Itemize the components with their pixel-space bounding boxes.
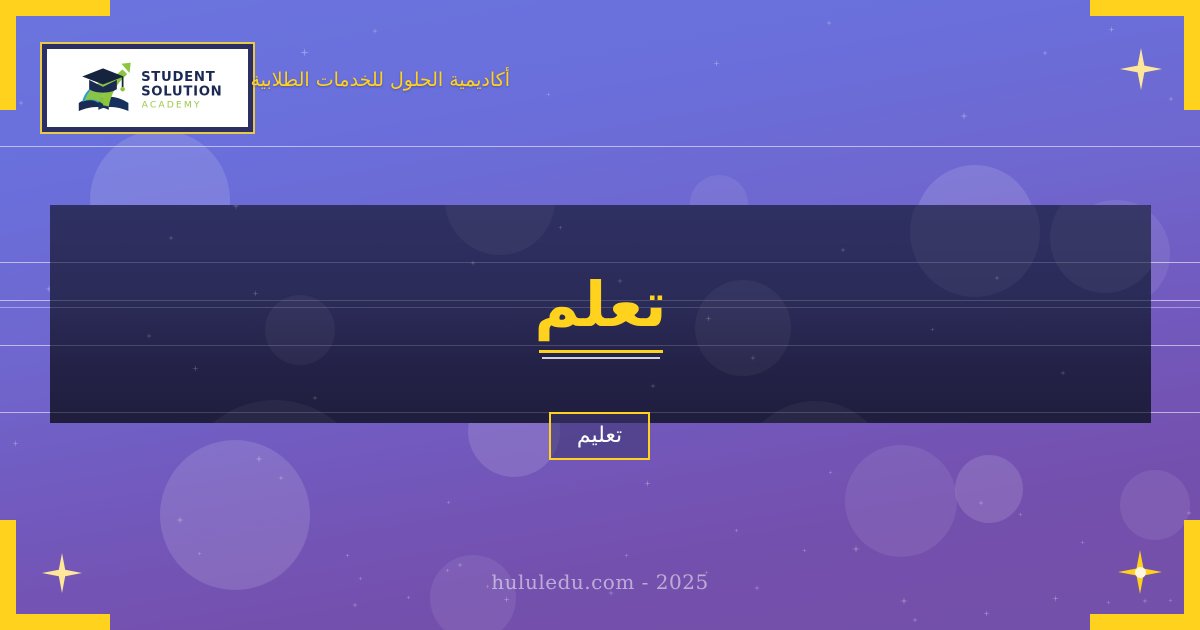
bokeh-circle bbox=[1120, 470, 1190, 540]
sparkle-icon bbox=[978, 500, 984, 506]
sparkle-icon bbox=[300, 48, 309, 57]
sparkle-icon bbox=[1018, 512, 1023, 517]
sparkle-icon bbox=[197, 551, 202, 556]
sparkle-icon bbox=[983, 610, 990, 617]
category-badge[interactable]: تعليم bbox=[549, 412, 650, 460]
sparkle-icon bbox=[1042, 50, 1048, 56]
sparkle-icon bbox=[644, 480, 651, 487]
sparkle-icon bbox=[624, 553, 629, 558]
brand-logo-frame: STUDENT SOLUTIONS ACADEMY bbox=[40, 42, 255, 134]
sparkle-icon bbox=[1106, 600, 1111, 605]
hero-headline-group: تعلم bbox=[50, 205, 1151, 423]
sparkle-icon bbox=[1080, 540, 1085, 545]
sparkle-icon bbox=[546, 92, 551, 97]
poster-canvas: STUDENT SOLUTIONS ACADEMY أكاديمية الحلو… bbox=[0, 0, 1200, 630]
sparkle-icon bbox=[713, 60, 720, 67]
corner-bracket-top-right bbox=[1090, 0, 1200, 110]
brand-title-arabic: أكاديمية الحلول للخدمات الطلابية bbox=[250, 66, 510, 94]
sparkle-icon bbox=[176, 516, 184, 524]
bokeh-circle bbox=[845, 445, 957, 557]
sparkle-icon bbox=[446, 500, 451, 505]
bokeh-circle bbox=[955, 455, 1023, 523]
sparkle-icon bbox=[1168, 96, 1174, 102]
sparkle-icon bbox=[278, 475, 284, 481]
footer-credit: hululedu.com - 2025 bbox=[0, 570, 1200, 594]
headline-rule-white bbox=[542, 357, 660, 359]
sparkle-icon bbox=[406, 595, 411, 600]
sparkle-icon bbox=[828, 470, 833, 475]
sparkle-icon bbox=[802, 548, 807, 553]
sparkle-icon bbox=[960, 112, 968, 120]
sparkle-icon bbox=[457, 562, 463, 568]
logo-wordmark-line3: ACADEMY bbox=[141, 100, 201, 111]
bokeh-circle bbox=[160, 440, 310, 590]
sparkle-icon bbox=[255, 455, 263, 463]
sparkle-icon bbox=[372, 28, 378, 34]
logo-wordmark-line2: SOLUTIONS bbox=[141, 85, 223, 100]
sparkle-icon bbox=[503, 596, 510, 603]
star-sparkle-icon bbox=[1120, 48, 1162, 90]
sparkle-icon bbox=[42, 620, 48, 626]
sparkle-icon bbox=[1186, 510, 1192, 516]
sparkle-icon bbox=[18, 100, 24, 106]
student-solutions-academy-logo-icon: STUDENT SOLUTIONS ACADEMY bbox=[73, 59, 223, 117]
logo-wordmark-line1: STUDENT bbox=[141, 70, 215, 85]
sparkle-icon bbox=[900, 597, 908, 605]
sparkle-icon bbox=[352, 602, 358, 608]
sparkle-icon bbox=[734, 528, 739, 533]
sparkle-icon bbox=[345, 553, 350, 558]
brand-logo-inner: STUDENT SOLUTIONS ACADEMY bbox=[47, 49, 248, 127]
headline-rule-gold bbox=[539, 350, 663, 353]
sparkle-icon bbox=[1168, 598, 1173, 603]
hero-headline: تعلم bbox=[534, 270, 666, 340]
sparkle-icon bbox=[12, 440, 19, 447]
sparkle-icon bbox=[1108, 26, 1115, 33]
sparkle-icon bbox=[1052, 595, 1059, 602]
hero-banner: تعلم bbox=[50, 205, 1151, 423]
sparkle-icon bbox=[852, 545, 860, 553]
sparkle-icon bbox=[826, 20, 832, 26]
sparkle-icon bbox=[1142, 598, 1148, 604]
divider-line bbox=[0, 146, 1200, 147]
sparkle-icon bbox=[912, 617, 918, 623]
